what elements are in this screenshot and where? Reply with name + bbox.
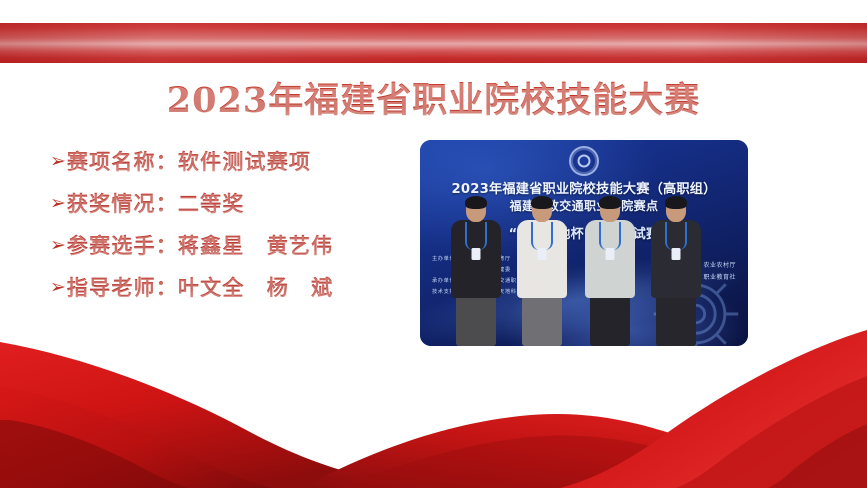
bullet-label-event-name: 赛项名称：软件测试赛项 — [67, 147, 311, 177]
arrow-bullet-icon: ➢ — [50, 231, 66, 261]
silk-right — [560, 330, 867, 488]
info-bullet-list: ➢ 赛项名称：软件测试赛项 ➢ 获奖情况：二等奖 ➢ 参赛选手：蒋鑫星 黄艺伟 … — [50, 147, 420, 315]
bullet-label-advisors: 指导老师：叶文全 杨 斌 — [67, 273, 333, 303]
person-legs — [590, 294, 630, 346]
page-title: 2023年福建省职业院校技能大赛 — [167, 72, 700, 123]
arrow-bullet-icon: ➢ — [50, 273, 66, 303]
lanyard-icon — [465, 222, 487, 250]
list-item: ➢ 参赛选手：蒋鑫星 黄艺伟 — [50, 231, 420, 273]
badge-icon — [606, 248, 615, 260]
person-hair — [665, 196, 687, 209]
top-white-strip — [0, 0, 867, 23]
list-item: ➢ 获奖情况：二等奖 — [50, 189, 420, 231]
list-item: ➢ 指导老师：叶文全 杨 斌 — [50, 273, 420, 315]
silk-right-shadow — [768, 424, 867, 488]
photo-banner-line-1: 2023年福建省职业院校技能大赛（高职组） — [420, 178, 748, 197]
bullet-label-contestants: 参赛选手：蒋鑫星 黄艺伟 — [67, 231, 333, 261]
person-2 — [514, 198, 570, 346]
top-red-band — [0, 23, 867, 63]
school-emblem-icon — [569, 146, 599, 176]
person-legs — [522, 294, 562, 346]
team-photo: 2023年福建省职业院校技能大赛（高职组） 福建船政交通职业学院赛点 “四合天地… — [420, 140, 748, 346]
arrow-bullet-icon: ➢ — [50, 189, 66, 219]
person-legs — [656, 294, 696, 346]
silk-left-fold — [0, 386, 272, 488]
bottom-silk-decoration — [0, 328, 867, 488]
person-hair — [465, 196, 487, 209]
silk-left — [0, 342, 420, 488]
list-item: ➢ 赛项名称：软件测试赛项 — [50, 147, 420, 189]
person-3 — [582, 198, 638, 346]
page-title-container: 2023年福建省职业院校技能大赛 — [0, 72, 867, 123]
bullet-label-award: 获奖情况：二等奖 — [67, 189, 245, 219]
person-4 — [648, 198, 704, 346]
lanyard-icon — [599, 222, 621, 250]
lanyard-icon — [665, 222, 687, 250]
lanyard-icon — [531, 222, 553, 250]
photo-people-group — [420, 196, 748, 346]
slide-root: 2023年福建省职业院校技能大赛 ➢ 赛项名称：软件测试赛项 ➢ 获奖情况：二等… — [0, 0, 867, 488]
badge-icon — [672, 248, 681, 260]
silk-right-fold — [676, 376, 867, 488]
person-hair — [531, 196, 553, 209]
arrow-bullet-icon: ➢ — [50, 147, 66, 177]
badge-icon — [538, 248, 547, 260]
person-hair — [599, 196, 621, 209]
silk-center — [300, 414, 867, 488]
person-legs — [456, 294, 496, 346]
person-1 — [448, 198, 504, 346]
silk-left-shadow — [0, 420, 188, 488]
silk-center-fold — [330, 436, 792, 488]
badge-icon — [472, 248, 481, 260]
